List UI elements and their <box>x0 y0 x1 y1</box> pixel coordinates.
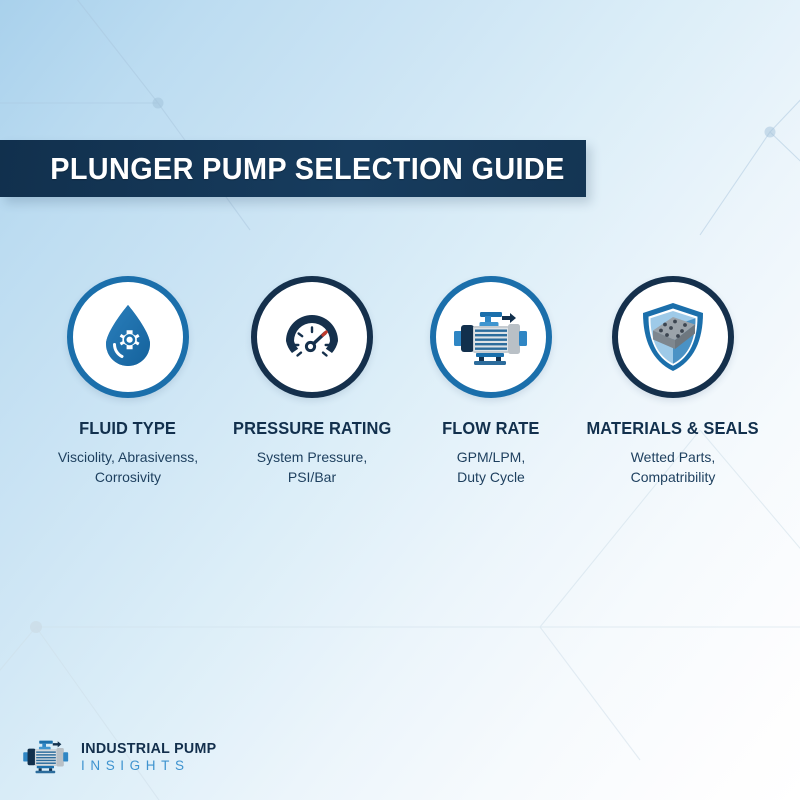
bg-node-dot <box>765 127 776 138</box>
pump-motor-logo-icon <box>22 735 70 777</box>
footer-logo[interactable]: INDUSTRIAL PUMP INSIGHTS <box>22 735 224 777</box>
pressure-gauge-icon <box>276 301 348 373</box>
selection-criteria-row: FLUID TYPE Visciolity, Abrasivenss, Corr… <box>0 276 800 488</box>
page-title: PLUNGER PUMP SELECTION GUIDE <box>0 151 565 187</box>
brand-name-secondary: INSIGHTS <box>81 758 224 773</box>
card-pressure-rating[interactable]: PRESSURE RATING System Pressure, PSI/Bar <box>219 276 405 488</box>
card-flow-rate[interactable]: FLOW RATE GPM/LPM, Duty Cycle <box>398 276 584 488</box>
card-title: MATERIALS & SEALS <box>587 418 759 439</box>
flow-rate-icon-circle <box>430 276 552 398</box>
card-description: Wetted Parts, Compatribility <box>631 448 716 488</box>
water-droplet-gear-icon <box>91 300 165 374</box>
card-title: FLOW RATE <box>442 418 539 439</box>
brand-wordmark: INDUSTRIAL PUMP INSIGHTS <box>81 740 224 773</box>
bg-node-dot <box>30 621 42 633</box>
brand-name-primary: INDUSTRIAL PUMP <box>81 740 216 757</box>
card-materials-seals[interactable]: MATERIALS & SEALS Wetted Parts, Compatri… <box>580 276 766 488</box>
title-banner: PLUNGER PUMP SELECTION GUIDE <box>0 140 586 197</box>
card-title: FLUID TYPE <box>80 418 177 439</box>
card-title: PRESSURE RATING <box>233 418 391 439</box>
card-fluid-type[interactable]: FLUID TYPE Visciolity, Abrasivenss, Corr… <box>35 276 221 488</box>
pressure-rating-icon-circle <box>251 276 373 398</box>
card-description: Visciolity, Abrasivenss, Corrosivity <box>58 448 198 488</box>
pump-motor-icon <box>452 304 530 370</box>
card-description: System Pressure, PSI/Bar <box>257 448 367 488</box>
card-description: GPM/LPM, Duty Cycle <box>457 448 525 488</box>
shield-seal-material-icon <box>639 300 707 374</box>
materials-seals-icon-circle <box>612 276 734 398</box>
bg-node-dot <box>153 98 164 109</box>
fluid-type-icon-circle <box>67 276 189 398</box>
